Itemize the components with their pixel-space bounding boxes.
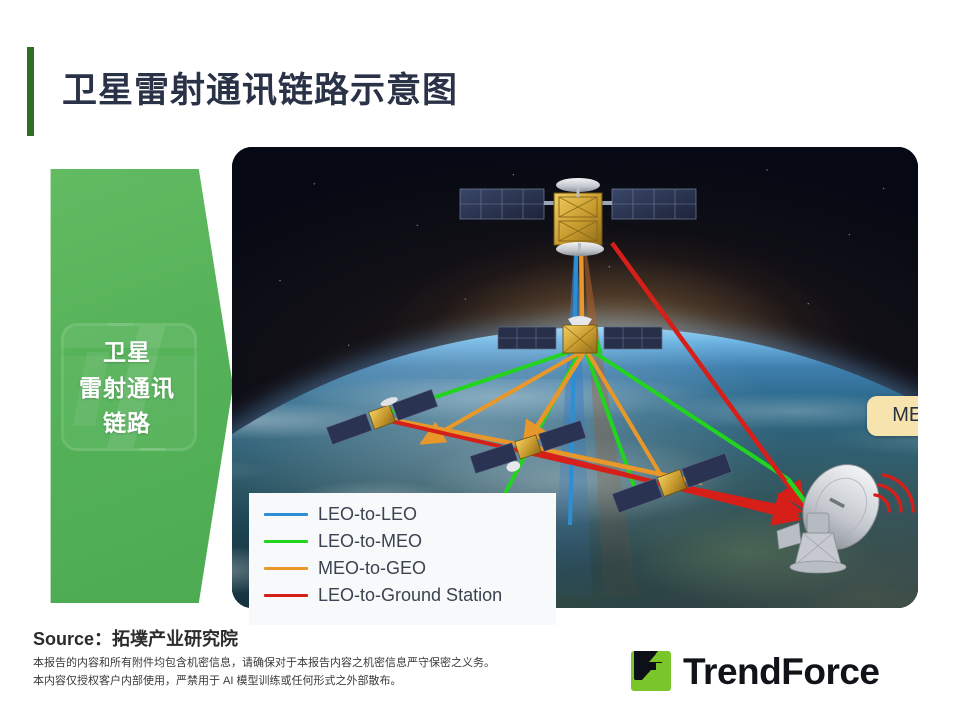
side-banner: 卫星 雷射通讯 链路: [43, 160, 233, 612]
legend-label-meo-to-geo: MEO-to-GEO: [318, 558, 426, 579]
signal-waves-icon: [875, 475, 913, 511]
satellite-meo: [498, 316, 662, 353]
link-leo-to-meo-4: [589, 349, 788, 479]
legend-swatch-leo-to-leo: [264, 513, 308, 516]
label-meo: MEO: [867, 396, 918, 436]
disclaimer-line-2: 本内容仅授权客户内部使用，严禁用于 AI 模型训练或任何形式之外部散布。: [33, 672, 495, 690]
disclaimer-line-1: 本报告的内容和所有附件均包含机密信息，请确保对于本报告内容之机密信息严守保密之义…: [33, 654, 495, 672]
disclaimer: 本报告的内容和所有附件均包含机密信息，请确保对于本报告内容之机密信息严守保密之义…: [33, 654, 495, 690]
geo-beam-orange: [582, 221, 638, 597]
trendforce-logo-mark-icon: [630, 650, 672, 692]
side-banner-line-2: 雷射通讯: [43, 371, 211, 407]
legend-item-leo-to-ground-station: LEO-to-Ground Station: [249, 582, 556, 609]
title-accent-bar: [27, 47, 34, 136]
trendforce-logo: TrendForce: [630, 648, 880, 694]
slide: 卫星雷射通讯链路示意图 卫星 雷射通讯 链路: [0, 0, 960, 720]
side-banner-line-3: 链路: [43, 406, 211, 442]
source-line: Source：拓墣产业研究院: [33, 625, 238, 651]
page-title: 卫星雷射通讯链路示意图: [62, 62, 458, 113]
satellite-geo: [460, 178, 696, 256]
trendforce-logo-text: TrendForce: [683, 653, 880, 690]
satellite-leo-3: [612, 453, 732, 513]
legend-label-leo-to-meo: LEO-to-MEO: [318, 531, 422, 552]
legend-label-leo-to-ground-station: LEO-to-Ground Station: [318, 585, 502, 606]
side-banner-line-1: 卫星: [43, 335, 211, 371]
side-banner-text: 卫星 雷射通讯 链路: [43, 335, 211, 442]
legend-item-leo-to-meo: LEO-to-MEO: [249, 528, 556, 555]
legend-item-leo-to-leo: LEO-to-LEO: [249, 501, 556, 528]
legend-item-meo-to-geo: MEO-to-GEO: [249, 555, 556, 582]
legend-swatch-meo-to-geo: [264, 567, 308, 570]
link-leo-to-gs-3: [674, 485, 800, 511]
satellite-leo-1: [324, 383, 438, 444]
legend-swatch-leo-to-meo: [264, 540, 308, 543]
legend-label-leo-to-leo: LEO-to-LEO: [318, 504, 417, 525]
legend-swatch-leo-to-ground-station: [264, 594, 308, 597]
legend: LEO-to-LEO LEO-to-MEO MEO-to-GEO LEO-to-…: [249, 493, 556, 625]
